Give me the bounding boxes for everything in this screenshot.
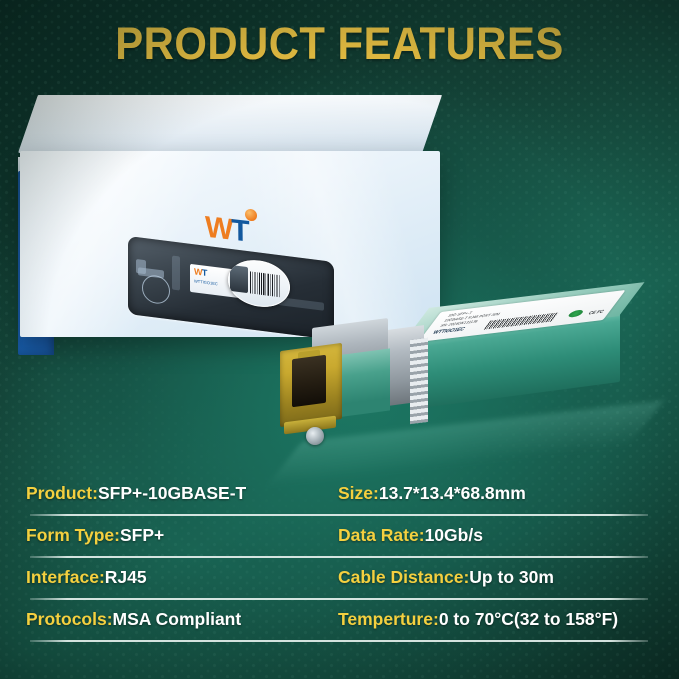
module-heatsink-fins	[410, 338, 428, 424]
module-label-brand: WTTIGO1EC	[431, 326, 466, 336]
wt-logo-w: W	[205, 211, 232, 247]
spec-key: Interface:	[26, 567, 105, 587]
spec-value: RJ45	[105, 567, 147, 587]
window-cable-coil	[142, 274, 170, 306]
spec-cell-size: Size:13.7*13.4*68.8mm	[338, 480, 526, 506]
wt-logo: WT	[205, 213, 248, 248]
spec-divider	[30, 640, 648, 642]
rohs-icon	[567, 309, 585, 318]
spec-cell-data-rate: Data Rate:10Gb/s	[338, 522, 483, 548]
spec-key: Size:	[338, 483, 379, 503]
module-label-certifications: CE FC	[587, 309, 605, 316]
window-card-logo-t: T	[202, 267, 207, 278]
page-title: PRODUCT FEATURES	[24, 18, 655, 70]
spec-key: Product:	[26, 483, 98, 503]
spec-cell-protocols: Protocols:MSA Compliant	[26, 606, 241, 632]
spec-cell-cable-distance: Cable Distance:Up to 30m	[338, 564, 554, 590]
spec-value: SFP+	[120, 525, 164, 545]
spec-row: Protocols:MSA Compliant Temperture:0 to …	[0, 602, 679, 644]
spec-value: 10Gb/s	[425, 525, 483, 545]
window-barcode	[250, 271, 280, 297]
window-module-thumb	[230, 265, 248, 293]
spec-value: 0 to 70°C(32 to 158°F)	[439, 609, 618, 629]
rj45-cavity	[292, 355, 326, 407]
window-card-logo: WT	[194, 267, 207, 278]
spec-key: Form Type:	[26, 525, 120, 545]
window-card-subtext: WTTIGO1EC	[194, 278, 218, 286]
spec-value: MSA Compliant	[113, 609, 242, 629]
spec-cell-form-type: Form Type:SFP+	[26, 522, 164, 548]
specifications-table: Product:SFP+-10GBASE-T Size:13.7*13.4*68…	[0, 476, 679, 644]
spec-row: Product:SFP+-10GBASE-T Size:13.7*13.4*68…	[0, 476, 679, 518]
spec-key: Cable Distance:	[338, 567, 469, 587]
window-part-b	[136, 259, 146, 274]
spec-key: Data Rate:	[338, 525, 425, 545]
window-card-logo-w: W	[194, 266, 202, 277]
spec-cell-temperature: Temperture:0 to 70°C(32 to 158°F)	[338, 606, 618, 632]
spec-key: Temperture:	[338, 609, 439, 629]
spec-divider	[30, 556, 648, 558]
sfp-transceiver-module: 10G-SFP+-T 10GBASE-T RJ45 PORT 30M SN: 2…	[270, 295, 665, 480]
spec-value: 13.7*13.4*68.8mm	[379, 483, 526, 503]
box-top-highlight	[18, 95, 442, 153]
spec-divider	[30, 514, 648, 516]
wt-logo-t: T	[231, 214, 248, 249]
spec-cell-interface: Interface:RJ45	[26, 564, 147, 590]
spec-key: Protocols:	[26, 609, 113, 629]
spec-divider	[30, 598, 648, 600]
module-pull-latch	[306, 427, 324, 445]
spec-row: Interface:RJ45 Cable Distance:Up to 30m	[0, 560, 679, 602]
spec-value: SFP+-10GBASE-T	[98, 483, 246, 503]
spec-cell-product: Product:SFP+-10GBASE-T	[26, 480, 246, 506]
spec-value: Up to 30m	[469, 567, 554, 587]
product-features-banner: PRODUCT FEATURES WT WT	[0, 0, 679, 679]
spec-row: Form Type:SFP+ Data Rate:10Gb/s	[0, 518, 679, 560]
window-part-c	[172, 256, 180, 291]
